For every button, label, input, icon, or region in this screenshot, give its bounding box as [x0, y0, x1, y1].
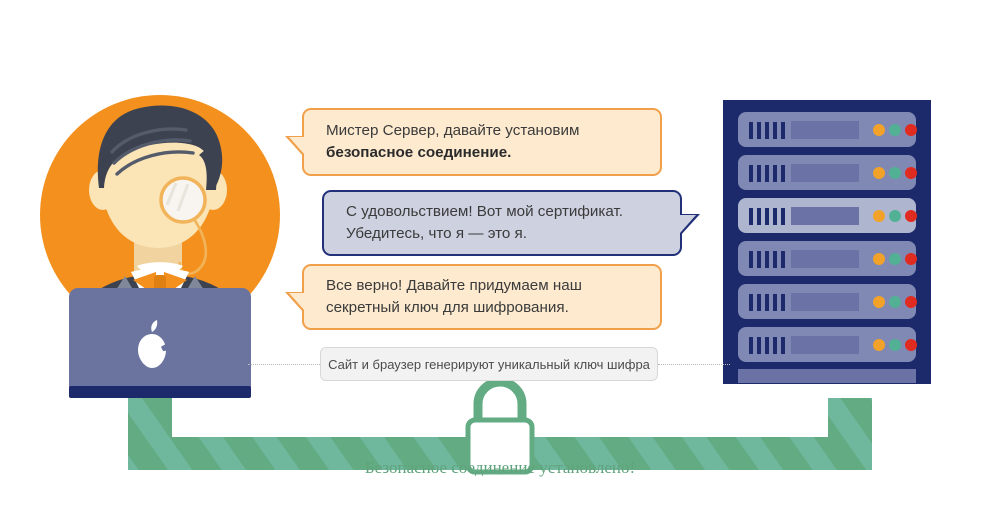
bubble-line: Мистер Сервер, давайте установим	[326, 120, 644, 142]
bubble-line: безопасное соединение.	[326, 142, 644, 164]
server-unit	[738, 327, 917, 362]
laptop	[69, 288, 251, 398]
server-unit	[738, 198, 917, 233]
server-rack	[723, 100, 931, 384]
server-base-strip	[738, 369, 916, 383]
speech-bubble-client-1: Мистер Сервер, давайте установим безопас…	[302, 108, 662, 176]
bubble-line: секретный ключ для шифрования.	[326, 297, 644, 319]
infobox-label: Сайт и браузер генерируют уникальный клю…	[328, 357, 650, 372]
dotted-connector-right	[658, 364, 730, 365]
server-unit	[738, 112, 917, 147]
key-generation-infobox: Сайт и браузер генерируют уникальный клю…	[320, 347, 658, 381]
bubble-tail-inner	[680, 215, 696, 233]
illustration-stage: Мистер Сервер, давайте установим безопас…	[0, 0, 1000, 523]
secure-connection-caption: Безопасное соединение установлено!	[0, 458, 1000, 478]
server-unit	[738, 155, 917, 190]
bubble-tail-inner	[289, 293, 305, 311]
bubble-line: С удовольствием! Вот мой сертификат.	[346, 201, 664, 223]
server-unit	[738, 241, 917, 276]
bubble-line: Убедитесь, что я — это я.	[346, 223, 664, 245]
bubble-line: Все верно! Давайте придумаем наш	[326, 275, 644, 297]
server-unit	[738, 284, 917, 319]
scene-artwork	[0, 0, 1000, 523]
speech-bubble-server-1: С удовольствием! Вот мой сертификат. Убе…	[322, 190, 682, 256]
dotted-connector-left	[248, 364, 320, 365]
bubble-tail-inner	[289, 137, 305, 155]
speech-bubble-client-2: Все верно! Давайте придумаем наш секретн…	[302, 264, 662, 330]
